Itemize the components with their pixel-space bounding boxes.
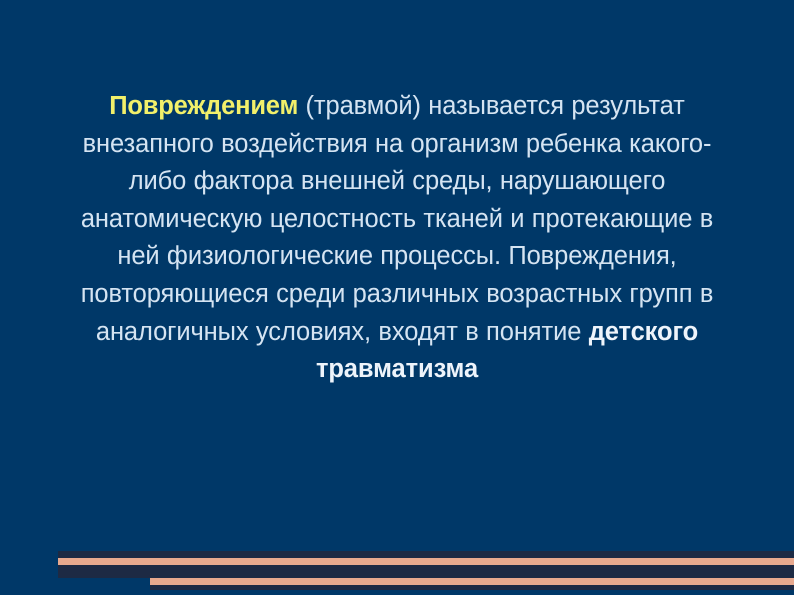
definition-text: (травмой) называется результат внезапног… (81, 92, 714, 346)
upper-rule-shadow (58, 551, 794, 558)
slide-canvas: Повреждением (травмой) называется резуль… (0, 0, 794, 595)
highlighted-term: Повреждением (109, 92, 298, 120)
upper-accent-rule (58, 558, 794, 565)
lower-accent-rule (150, 578, 794, 585)
lower-rule-shadow (150, 585, 794, 590)
definition-paragraph: Повреждением (травмой) называется резуль… (60, 88, 734, 389)
middle-rule-shadow (58, 565, 794, 578)
slide-body-text: Повреждением (травмой) называется резуль… (60, 88, 734, 389)
